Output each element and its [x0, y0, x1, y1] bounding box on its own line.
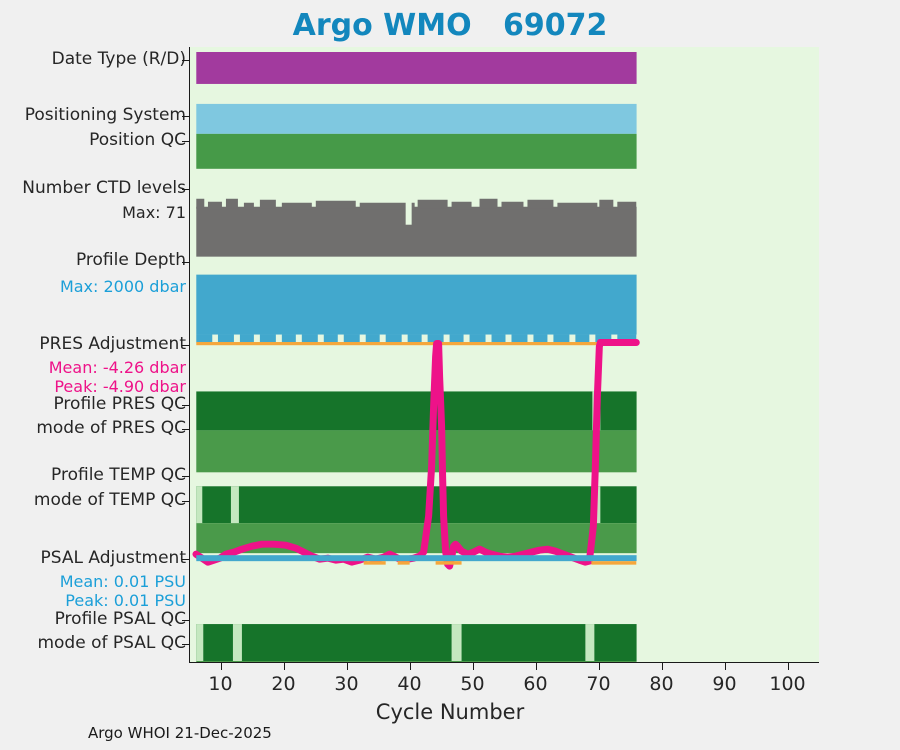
xtick-40 [410, 663, 411, 670]
series-mode-psal-qc [196, 661, 636, 662]
xtick-20 [284, 663, 285, 670]
label-mode-temp-qc: mode of TEMP QC [34, 492, 186, 509]
label-psal-adjustment: PSAL Adjustment [41, 550, 186, 567]
xtick-50 [473, 663, 474, 670]
xtick-10 [221, 663, 222, 670]
label-mode-pres-qc: mode of PRES QC [36, 420, 186, 437]
xtick-80 [662, 663, 663, 670]
label-ctd-levels-max: Max: 71 [122, 205, 186, 221]
series-date-type [196, 52, 636, 84]
series-profile-pres-qc [196, 391, 636, 430]
series-profile-psal-qc [196, 624, 636, 661]
label-date-type: Date Type (R/D) [52, 51, 186, 68]
xtick-90 [725, 663, 726, 670]
xtick-label-50: 50 [443, 673, 503, 695]
label-profile-pres-qc: Profile PRES QC [53, 396, 186, 413]
label-pres-mean: Mean: -4.26 dbar [49, 360, 186, 376]
xtick-label-100: 100 [758, 673, 818, 695]
label-profile-depth: Profile Depth [76, 252, 186, 269]
series-psal-adjustment [196, 555, 636, 564]
xtick-60 [536, 663, 537, 670]
xtick-label-90: 90 [695, 673, 755, 695]
label-psal-mean: Mean: 0.01 PSU [60, 574, 186, 590]
series-profile-depth [196, 275, 636, 343]
x-axis-label: Cycle Number [0, 700, 900, 724]
xtick-label-70: 70 [569, 673, 629, 695]
xtick-label-10: 10 [191, 673, 251, 695]
label-psal-peak: Peak: 0.01 PSU [65, 593, 186, 609]
label-mode-psal-qc: mode of PSAL QC [37, 635, 186, 652]
xtick-30 [347, 663, 348, 670]
label-ctd-levels: Number CTD levels [22, 180, 186, 197]
xtick-label-40: 40 [380, 673, 440, 695]
chart-series-layer [190, 47, 819, 662]
footer-text: Argo WHOI 21-Dec-2025 [88, 724, 272, 742]
page-title: Argo WMO 69072 [0, 8, 900, 43]
label-profile-psal-qc: Profile PSAL QC [55, 611, 186, 628]
xtick-70 [599, 663, 600, 670]
label-position-qc: Position QC [89, 132, 186, 149]
xtick-label-80: 80 [632, 673, 692, 695]
series-position-qc [196, 134, 636, 169]
label-profile-temp-qc: Profile TEMP QC [51, 467, 186, 484]
xtick-label-20: 20 [254, 673, 314, 695]
xtick-label-60: 60 [506, 673, 566, 695]
xtick-label-30: 30 [317, 673, 377, 695]
series-profile-temp-qc [196, 486, 636, 523]
label-profile-depth-max: Max: 2000 dbar [60, 279, 186, 295]
series-pres-adjustment-line [196, 342, 636, 345]
label-pres-adjustment: PRES Adjustment [39, 336, 186, 353]
chart-plot-area [189, 47, 819, 663]
label-positioning-system: Positioning System [25, 107, 186, 124]
series-positioning-system [196, 104, 636, 134]
label-pres-peak: Peak: -4.90 dbar [54, 379, 186, 395]
series-mode-temp-qc [196, 523, 636, 553]
series-ctd-levels [196, 199, 636, 257]
xtick-100 [788, 663, 789, 670]
series-mode-pres-qc [196, 430, 636, 472]
